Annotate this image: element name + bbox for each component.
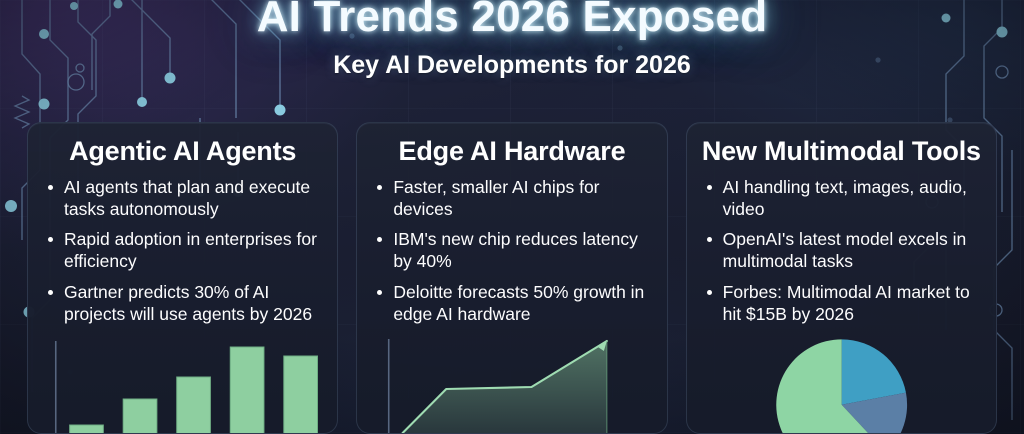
card-title: New Multimodal Tools <box>687 123 996 167</box>
pie-chart-svg <box>687 329 996 433</box>
bar <box>284 356 318 433</box>
bar <box>230 347 264 433</box>
bar-chart <box>28 329 337 433</box>
bullet-list: AI handling text, images, audio, video O… <box>687 177 996 326</box>
list-item: Faster, smaller AI chips for devices <box>375 177 652 221</box>
card-row: Agentic AI Agents AI agents that plan an… <box>0 122 1024 434</box>
infographic-canvas: AI Trends 2026 Exposed Key AI Developmen… <box>0 0 1024 434</box>
bar <box>123 399 157 433</box>
pie-chart <box>687 329 996 433</box>
bar <box>177 377 211 433</box>
bullet-list: AI agents that plan and execute tasks au… <box>28 177 337 326</box>
card-title: Edge AI Hardware <box>357 123 666 167</box>
header: AI Trends 2026 Exposed Key AI Developmen… <box>0 0 1024 80</box>
list-item: Rapid adoption in enterprises for effici… <box>46 229 323 273</box>
area-chart <box>357 329 666 433</box>
list-item: Deloitte forecasts 50% growth in edge AI… <box>375 282 652 326</box>
list-item: IBM's new chip reduces latency by 40% <box>375 229 652 273</box>
card-title: Agentic AI Agents <box>28 123 337 167</box>
page-title: AI Trends 2026 Exposed <box>0 0 1024 40</box>
list-item: OpenAI's latest model excels in multimod… <box>705 229 982 273</box>
card-new-multimodal-tools: New Multimodal Tools AI handling text, i… <box>686 122 997 434</box>
bar-chart-svg <box>28 329 337 433</box>
card-agentic-ai-agents: Agentic AI Agents AI agents that plan an… <box>27 122 338 434</box>
list-item: Forbes: Multimodal AI market to hit $15B… <box>705 282 982 326</box>
card-edge-ai-hardware: Edge AI Hardware Faster, smaller AI chip… <box>356 122 667 434</box>
bullet-list: Faster, smaller AI chips for devices IBM… <box>357 177 666 326</box>
list-item: AI agents that plan and execute tasks au… <box>46 177 323 221</box>
page-subtitle: Key AI Developments for 2026 <box>0 52 1024 80</box>
area-chart-svg <box>357 329 666 433</box>
bar <box>70 425 104 433</box>
list-item: AI handling text, images, audio, video <box>705 177 982 221</box>
list-item: Gartner predicts 30% of AI projects will… <box>46 282 323 326</box>
pie-group <box>776 339 907 433</box>
bar-series <box>70 347 318 433</box>
